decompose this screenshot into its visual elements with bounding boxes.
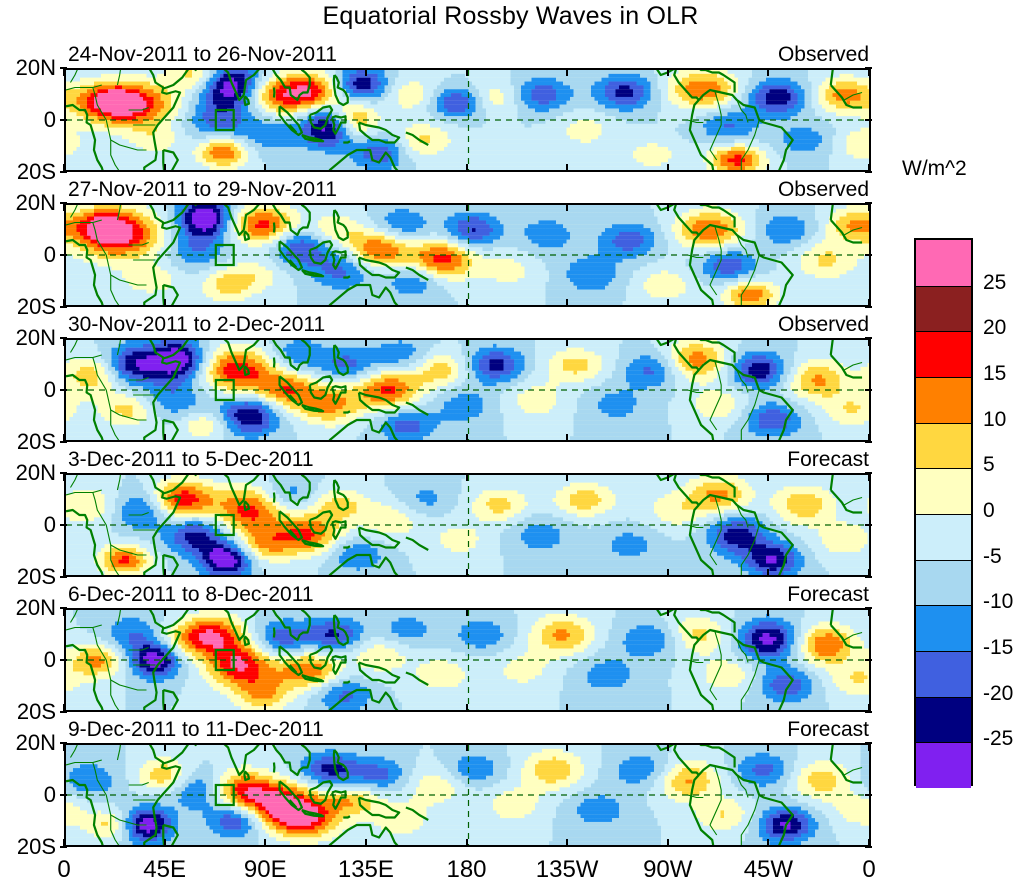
y-tick-mark (865, 576, 872, 578)
y-tick-mark (60, 711, 67, 713)
coastline (111, 275, 147, 285)
coastline (280, 376, 302, 405)
x-tick-mark (264, 569, 266, 576)
x-tick-mark (365, 474, 367, 481)
coastline (129, 783, 149, 786)
x-tick-mark (466, 339, 468, 346)
y-axis-tick-label: 20S (0, 159, 56, 185)
x-tick-mark (164, 609, 166, 616)
x-tick-mark (767, 744, 769, 751)
panel-title-dates: 9-Dec-2011 to 11-Dec-2011 (68, 718, 324, 742)
y-tick-mark (60, 441, 67, 443)
coastline (359, 258, 399, 278)
x-tick-mark (164, 434, 166, 441)
coastline (359, 123, 399, 143)
x-tick-mark (164, 474, 166, 481)
y-axis-tick-label: 0 (0, 512, 56, 538)
x-tick-mark (566, 164, 568, 171)
coastline (359, 798, 399, 818)
x-tick-mark (466, 474, 468, 481)
coastline (111, 275, 136, 305)
x-tick-mark (164, 204, 166, 211)
coastline (343, 816, 350, 817)
y-tick-mark (60, 524, 67, 526)
x-tick-mark (466, 704, 468, 711)
figure-root: Equatorial Rossby Waves in OLR 24-Nov-20… (0, 0, 1021, 890)
x-tick-mark (164, 69, 166, 76)
x-tick-mark (566, 69, 568, 76)
coastline (683, 475, 734, 498)
page-title: Equatorial Rossby Waves in OLR (0, 2, 1021, 31)
coastline (280, 781, 302, 810)
coastline (310, 646, 332, 669)
coastline (332, 791, 345, 809)
y-axis-tick-label: 0 (0, 377, 56, 403)
coastline (359, 663, 399, 683)
x-tick-mark (63, 164, 65, 171)
panel-status-label: Observed (778, 178, 869, 202)
y-tick-mark (865, 389, 872, 391)
x-tick-mark (667, 704, 669, 711)
colorbar-band (916, 377, 971, 423)
coastline (690, 100, 715, 170)
x-tick-mark (767, 339, 769, 346)
coastline (162, 70, 196, 89)
y-tick-mark (865, 794, 872, 796)
x-tick-mark (566, 704, 568, 711)
coastline (406, 268, 428, 281)
coastline (93, 628, 111, 681)
coastline (66, 760, 862, 775)
coastline (302, 675, 323, 681)
colorbar-tick-label: 10 (983, 408, 1006, 432)
coastline (302, 135, 323, 141)
x-tick-mark (667, 609, 669, 616)
coastline (66, 220, 862, 235)
coastline (683, 610, 734, 633)
coastline (70, 205, 88, 218)
coastline (244, 96, 248, 105)
coastline (334, 615, 348, 645)
map-overlay (66, 745, 871, 845)
x-tick-mark (767, 609, 769, 616)
coastline (302, 270, 323, 276)
coastline (280, 646, 302, 675)
x-tick-mark (767, 299, 769, 306)
x-tick-mark (164, 569, 166, 576)
coastline (699, 360, 793, 440)
panel-title-dates: 27-Nov-2011 to 29-Nov-2011 (68, 178, 337, 202)
coastline (70, 610, 88, 623)
coastline (117, 70, 121, 85)
coastline (70, 340, 88, 353)
panel-status-label: Forecast (787, 448, 869, 472)
coastline (111, 410, 136, 440)
panel-status-label: Forecast (787, 718, 869, 742)
y-tick-mark (60, 846, 67, 848)
x-tick-mark (365, 339, 367, 346)
coastline (162, 610, 196, 629)
x-tick-mark (566, 839, 568, 846)
x-tick-mark (767, 434, 769, 441)
x-tick-mark (264, 474, 266, 481)
panel-title-dates: 6-Dec-2011 to 8-Dec-2011 (68, 583, 314, 607)
x-tick-mark (667, 474, 669, 481)
coastline (741, 390, 759, 440)
x-tick-mark (164, 299, 166, 306)
y-tick-mark (60, 742, 67, 744)
y-axis-tick-label: 20S (0, 294, 56, 320)
colorbar-band (916, 468, 971, 514)
coastline (111, 680, 147, 690)
panel-status-label: Observed (778, 313, 869, 337)
map-panel (64, 743, 871, 847)
coastline (129, 378, 149, 381)
coastline (111, 680, 136, 710)
y-axis-tick-label: 20S (0, 429, 56, 455)
colorbar-tick-label: 20 (983, 316, 1006, 340)
y-axis-tick-label: 20N (0, 730, 56, 756)
coastline (244, 636, 248, 645)
coastline (607, 340, 699, 370)
coastline (332, 656, 345, 674)
colorbar-band (916, 605, 971, 651)
coastline (710, 90, 721, 160)
coastline (162, 475, 196, 494)
x-tick-mark (164, 704, 166, 711)
coastline (93, 763, 111, 816)
coastline (343, 681, 350, 682)
x-tick-mark (868, 299, 870, 306)
x-tick-mark (667, 69, 669, 76)
coastline (117, 475, 121, 490)
coastline (73, 205, 867, 220)
x-tick-mark (365, 704, 367, 711)
coastline (162, 205, 196, 224)
coastline (310, 511, 332, 534)
coastline (117, 610, 121, 625)
y-axis-tick-label: 20S (0, 564, 56, 590)
x-tick-mark (667, 339, 669, 346)
x-tick-mark (868, 204, 870, 211)
coastline (607, 745, 699, 775)
x-tick-mark (868, 474, 870, 481)
x-tick-mark (868, 704, 870, 711)
x-tick-mark (466, 744, 468, 751)
coastline (93, 88, 111, 141)
coastline (741, 795, 759, 845)
coastline (690, 235, 715, 305)
map-overlay (66, 610, 871, 710)
x-tick-mark (63, 299, 65, 306)
coastline (334, 345, 348, 375)
x-tick-mark (868, 609, 870, 616)
x-tick-mark (264, 704, 266, 711)
colorbar-tick-label: -5 (983, 545, 1002, 569)
coastline (607, 610, 699, 640)
coastline (111, 140, 147, 150)
x-tick-mark (365, 569, 367, 576)
x-tick-mark (63, 609, 65, 616)
x-tick-mark (264, 339, 266, 346)
colorbar-band (916, 560, 971, 606)
coastline (302, 540, 323, 546)
colorbar-band (916, 286, 971, 332)
coastline (699, 225, 793, 305)
coastline (117, 205, 121, 220)
x-tick-mark (767, 839, 769, 846)
x-tick-mark (466, 609, 468, 616)
x-tick-mark (63, 474, 65, 481)
coastline (73, 475, 867, 490)
coastline (310, 241, 332, 264)
x-tick-mark (63, 69, 65, 76)
x-tick-mark (365, 434, 367, 441)
x-tick-mark (264, 609, 266, 616)
panel-status-label: Observed (778, 43, 869, 67)
coastline (332, 116, 345, 134)
colorbar-band (916, 514, 971, 560)
colorbar-tick-label: -10 (983, 590, 1013, 614)
y-tick-mark (865, 337, 872, 339)
coastline (332, 251, 345, 269)
x-tick-mark (868, 434, 870, 441)
panel-title-dates: 30-Nov-2011 to 2-Dec-2011 (68, 313, 325, 337)
y-axis-tick-label: 20N (0, 325, 56, 351)
y-tick-mark (60, 607, 67, 609)
coastline (690, 505, 715, 575)
x-tick-mark (264, 69, 266, 76)
y-axis-tick-label: 20N (0, 595, 56, 621)
coastline (244, 771, 248, 780)
x-tick-mark (63, 339, 65, 346)
y-tick-mark (865, 119, 872, 121)
y-tick-mark (865, 472, 872, 474)
coastline (310, 376, 332, 399)
y-tick-mark (60, 67, 67, 69)
coastline (280, 511, 302, 540)
coastline (710, 360, 721, 430)
y-tick-mark (60, 202, 67, 204)
x-tick-mark (667, 569, 669, 576)
coastline (244, 501, 248, 510)
coastline (741, 120, 759, 170)
x-tick-mark (365, 839, 367, 846)
coastline (683, 340, 734, 363)
x-tick-mark (767, 704, 769, 711)
y-tick-mark (60, 472, 67, 474)
coastline (406, 673, 428, 686)
x-tick-mark (767, 164, 769, 171)
coastline (699, 90, 793, 170)
y-axis-tick-label: 0 (0, 782, 56, 808)
coastline (710, 630, 721, 700)
x-tick-mark (868, 339, 870, 346)
x-tick-mark (466, 204, 468, 211)
x-tick-mark (63, 434, 65, 441)
coastline (111, 815, 136, 845)
coastline (699, 765, 793, 845)
x-tick-mark (667, 204, 669, 211)
y-axis-tick-label: 0 (0, 107, 56, 133)
coastline (73, 340, 867, 355)
x-tick-mark (164, 839, 166, 846)
x-tick-mark (868, 839, 870, 846)
x-tick-mark (264, 839, 266, 846)
coastline (332, 386, 345, 404)
coastline (66, 85, 862, 100)
coastline (70, 745, 88, 758)
y-tick-mark (60, 389, 67, 391)
coastline (244, 231, 248, 240)
coastline (162, 340, 196, 359)
x-tick-mark (264, 744, 266, 751)
colorbar-tick-label: -20 (983, 682, 1013, 706)
y-tick-mark (865, 711, 872, 713)
colorbar-tick-label: 0 (983, 499, 995, 523)
y-axis-tick-label: 0 (0, 647, 56, 673)
colorbar-band (916, 240, 971, 286)
y-tick-mark (865, 659, 872, 661)
colorbar-tick-label: -15 (983, 636, 1013, 660)
x-tick-mark (566, 339, 568, 346)
panel-title-dates: 3-Dec-2011 to 5-Dec-2011 (68, 448, 314, 472)
y-tick-mark (60, 306, 67, 308)
coastline (73, 610, 867, 625)
coastline (343, 276, 350, 277)
coastline (334, 750, 348, 780)
x-tick-mark (264, 434, 266, 441)
coastline (73, 70, 867, 85)
coastline (272, 205, 312, 235)
x-tick-mark (868, 744, 870, 751)
map-overlay (66, 475, 871, 575)
coastline (111, 545, 136, 575)
x-tick-mark (365, 204, 367, 211)
coastline (343, 141, 350, 142)
x-tick-mark (566, 299, 568, 306)
y-tick-mark (60, 576, 67, 578)
coastline (741, 255, 759, 305)
coastline (406, 133, 428, 146)
coastline (699, 495, 793, 575)
coastline (272, 70, 312, 100)
y-axis-tick-label: 0 (0, 242, 56, 268)
coastline (129, 243, 149, 246)
x-tick-mark (767, 204, 769, 211)
coastline (66, 490, 862, 505)
coastline (272, 340, 312, 370)
colorbar-scale (914, 238, 973, 786)
coastline (129, 648, 149, 651)
colorbar-unit-label: W/m^2 (902, 157, 967, 181)
coastline (280, 241, 302, 270)
y-tick-mark (865, 202, 872, 204)
map-panel (64, 473, 871, 577)
x-tick-mark (63, 204, 65, 211)
y-tick-mark (865, 67, 872, 69)
coastline (302, 405, 323, 411)
coastline (699, 630, 793, 710)
coastline (244, 366, 248, 375)
coastline (741, 525, 759, 575)
coastline (406, 808, 428, 821)
colorbar-tick-label: 5 (983, 453, 995, 477)
colorbar-band (916, 742, 971, 788)
y-tick-mark (865, 171, 872, 173)
colorbar-band (916, 331, 971, 377)
coastline (70, 70, 88, 83)
x-tick-mark (466, 299, 468, 306)
colorbar-band (916, 423, 971, 469)
x-tick-mark (264, 204, 266, 211)
map-overlay (66, 70, 871, 170)
coastline (70, 475, 88, 488)
coastline (710, 495, 721, 565)
coastline (310, 106, 332, 129)
coastline (343, 411, 350, 412)
coastline (111, 545, 147, 555)
x-tick-mark (667, 434, 669, 441)
coastline (406, 403, 428, 416)
coastline (334, 210, 348, 240)
coastline (343, 546, 350, 547)
coastline (690, 640, 715, 710)
x-tick-mark (566, 204, 568, 211)
coastline (310, 781, 332, 804)
coastline (334, 480, 348, 510)
x-tick-mark (566, 609, 568, 616)
coastline (111, 410, 147, 420)
x-tick-mark (566, 569, 568, 576)
x-tick-mark (466, 434, 468, 441)
coastline (683, 745, 734, 768)
y-axis-tick-label: 20N (0, 460, 56, 486)
y-tick-mark (865, 846, 872, 848)
x-tick-mark (868, 569, 870, 576)
coastline (66, 625, 862, 640)
y-tick-mark (60, 794, 67, 796)
colorbar-tick-label: 25 (983, 271, 1006, 295)
x-tick-mark (466, 69, 468, 76)
x-tick-mark (365, 69, 367, 76)
coastline (117, 340, 121, 355)
x-tick-mark (365, 164, 367, 171)
y-tick-mark (60, 119, 67, 121)
x-tick-mark (566, 744, 568, 751)
x-tick-mark (63, 569, 65, 576)
coastline (129, 513, 149, 516)
y-tick-mark (60, 659, 67, 661)
x-tick-mark (466, 839, 468, 846)
coastline (607, 70, 699, 100)
x-tick-mark (566, 474, 568, 481)
colorbar-tick-label: -25 (983, 727, 1013, 751)
x-tick-mark (365, 299, 367, 306)
y-tick-mark (865, 306, 872, 308)
x-tick-mark (667, 164, 669, 171)
x-tick-mark (264, 299, 266, 306)
coastline (334, 75, 348, 105)
coastline (359, 393, 399, 413)
map-overlay (66, 340, 871, 440)
coastline (73, 745, 867, 760)
y-axis-tick-label: 20N (0, 190, 56, 216)
y-tick-mark (865, 441, 872, 443)
coastline (111, 815, 147, 825)
x-tick-mark (365, 609, 367, 616)
coastline (111, 140, 136, 170)
